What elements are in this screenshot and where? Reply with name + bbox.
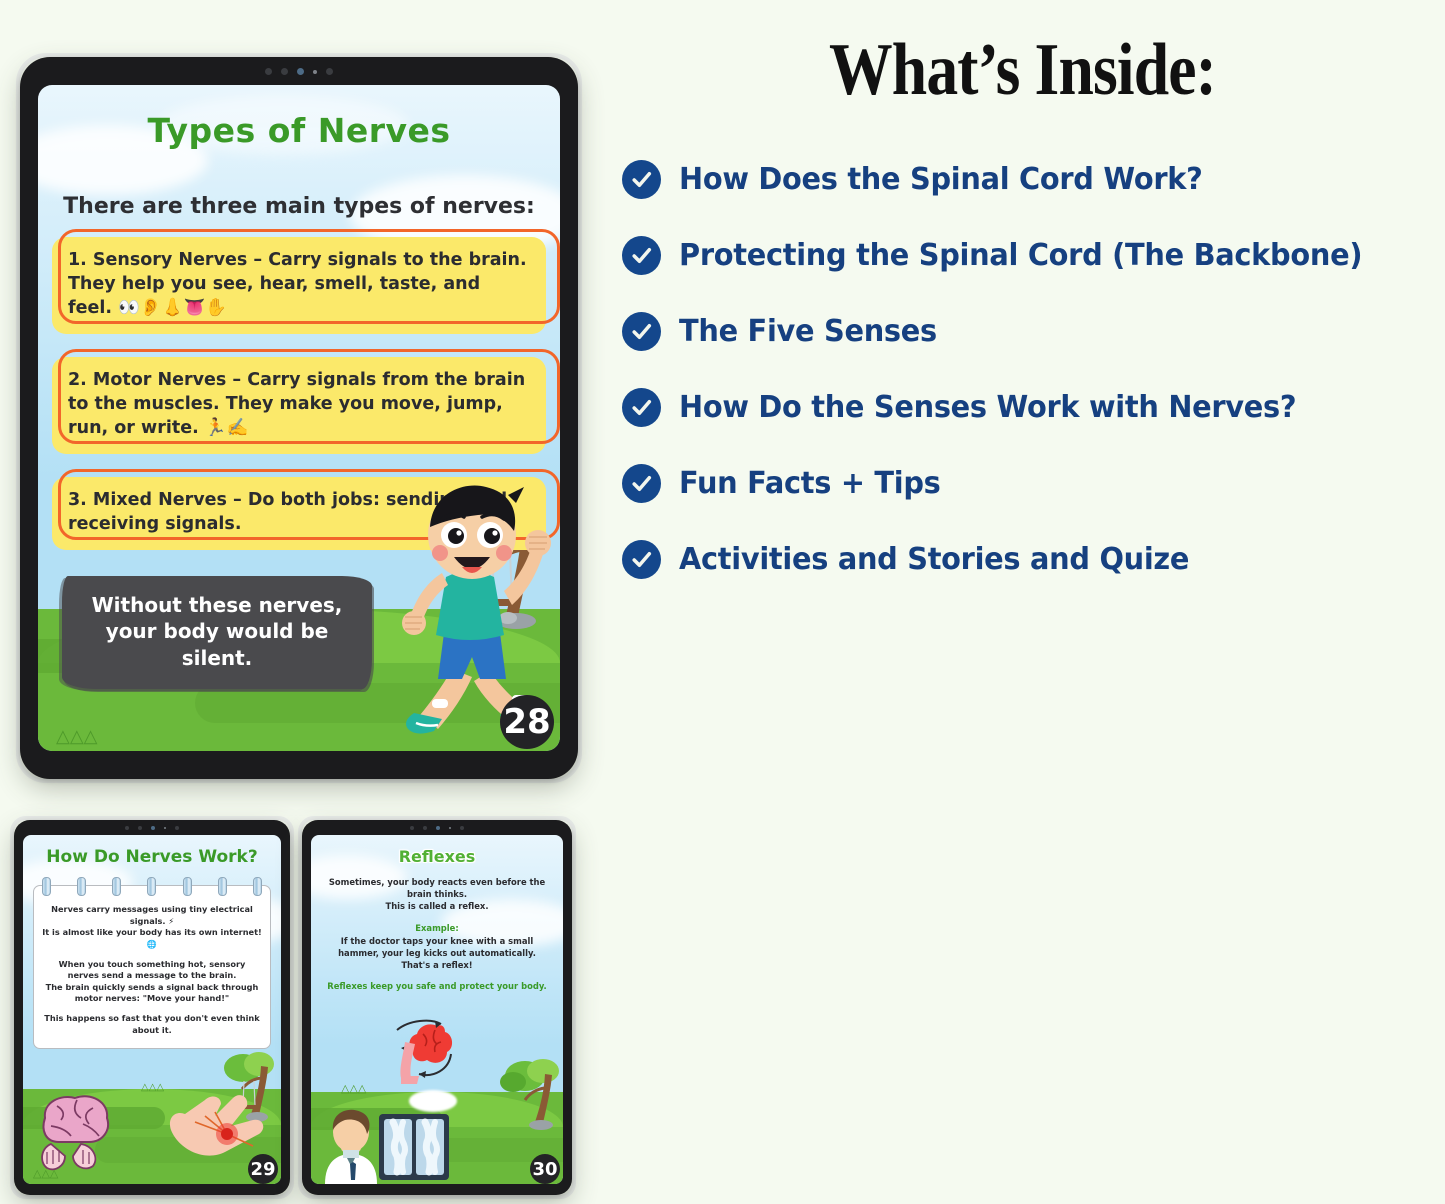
spiral-ring [77, 877, 86, 896]
checklist-item-label: The Five Senses [679, 314, 937, 349]
whats-inside-panel: What’s Inside: How Does the Spinal Cord … [600, 0, 1445, 640]
checklist-item[interactable]: The Five Senses [622, 309, 1445, 353]
sensor-dot [125, 826, 129, 830]
hand-with-nerves-illustration [165, 1076, 275, 1166]
spiral-ring [112, 877, 121, 896]
page-number-badge: 30 [530, 1154, 560, 1184]
feature-checklist: How Does the Spinal Cord Work? Protectin… [600, 157, 1445, 581]
body-paragraph: Sometimes, your body reacts even before … [319, 876, 555, 913]
note-text: 1. Sensory Nerves – Carry signals to the… [68, 250, 527, 318]
note-card: 1. Sensory Nerves – Carry signals to the… [52, 237, 546, 334]
page-title: How Do Nerves Work? [23, 847, 281, 867]
spiral-rings [42, 877, 262, 896]
checklist-item-label: How Do the Senses Work with Nerves? [679, 390, 1296, 425]
tablet-left-screen: △△△ △△△ How Do Nerves Work? [23, 835, 281, 1184]
check-circle-icon [622, 312, 661, 351]
tablet-right-screen: △△△ △△△ Reflexes Sometimes, your body re… [311, 835, 563, 1184]
camera-dot [151, 826, 155, 830]
check-circle-icon [622, 160, 661, 199]
banner-line-2: your body would be silent. [76, 618, 358, 671]
notepad-paragraph: Nerves carry messages using tiny electri… [42, 904, 262, 951]
tablet-device-right: △△△ △△△ Reflexes Sometimes, your body re… [302, 820, 572, 1195]
brain-illustration [33, 1088, 119, 1174]
sensor-dot [423, 826, 427, 830]
bezel-sensor-dots [20, 68, 578, 75]
brain-leg-reflex-diagram [389, 1016, 479, 1096]
reflexes-body: Sometimes, your body reacts even before … [319, 876, 555, 993]
checklist-item-label: Activities and Stories and Quize [679, 542, 1189, 577]
bezel-sensor-dots [14, 826, 290, 830]
sensor-dot [164, 827, 167, 830]
spiral-ring [183, 877, 192, 896]
check-circle-icon [622, 540, 661, 579]
checklist-item[interactable]: How Does the Spinal Cord Work? [622, 157, 1445, 201]
sensor-dot [460, 826, 464, 830]
page-number-badge: 28 [500, 695, 554, 749]
page-number-badge: 29 [248, 1154, 278, 1184]
page-subtitle: There are three main types of nerves: [38, 194, 560, 219]
knee-xray-illustration [377, 1112, 451, 1182]
checklist-item-label: Protecting the Spinal Cord (The Backbone… [679, 238, 1362, 273]
checklist-item[interactable]: Fun Facts + Tips [622, 461, 1445, 505]
tablet-device-left: △△△ △△△ How Do Nerves Work? [14, 820, 290, 1195]
camera-dot [436, 826, 440, 830]
spiral-ring [42, 877, 51, 896]
grass-tuft: △△△ [141, 1083, 164, 1093]
checklist-item[interactable]: How Do the Senses Work with Nerves? [622, 385, 1445, 429]
grass-tuft: △△△ [341, 1084, 366, 1095]
quote-banner: Without these nerves, your body would be… [62, 576, 372, 689]
notepad-card: Nerves carry messages using tiny electri… [33, 885, 271, 1049]
sensor-dot [410, 826, 414, 830]
example-label: Example: [319, 922, 555, 934]
notepad-paragraph: This happens so fast that you don't even… [42, 1013, 262, 1036]
tablet-device-main: △△△ △△△ Types of Nerves There are three … [20, 57, 578, 779]
check-circle-icon [622, 464, 661, 503]
checklist-item[interactable]: Protecting the Spinal Cord (The Backbone… [622, 233, 1445, 277]
check-circle-icon [622, 388, 661, 427]
tree-illustration [499, 1054, 563, 1134]
body-paragraph: If the doctor taps your knee with a smal… [319, 935, 555, 972]
sensor-dot [175, 826, 179, 830]
sensor-dot [265, 68, 272, 75]
camera-dot [297, 68, 304, 75]
spiral-ring [253, 877, 262, 896]
tablet-main-screen: △△△ △△△ Types of Nerves There are three … [38, 85, 560, 751]
checklist-item-label: How Does the Spinal Cord Work? [679, 162, 1203, 197]
sensor-dot [449, 827, 452, 830]
body-paragraph-highlight: Reflexes keep you safe and protect your … [319, 980, 555, 992]
checklist-item[interactable]: Activities and Stories and Quize [622, 537, 1445, 581]
spiral-ring [218, 877, 227, 896]
page-title: Types of Nerves [38, 111, 560, 150]
sensor-dot [138, 826, 142, 830]
note-text: 2. Motor Nerves – Carry signals from the… [68, 370, 525, 438]
sensor-dot [313, 70, 317, 74]
sensor-dot [326, 68, 333, 75]
checklist-item-label: Fun Facts + Tips [679, 466, 941, 501]
page-title: Reflexes [311, 847, 563, 866]
spiral-ring [147, 877, 156, 896]
check-circle-icon [622, 236, 661, 275]
notepad-paragraph: When you touch something hot, sensory ne… [42, 959, 262, 1006]
bezel-sensor-dots [302, 826, 572, 830]
page-heading: What’s Inside: [659, 28, 1386, 113]
banner-line-1: Without these nerves, [76, 592, 358, 618]
note-card: 2. Motor Nerves – Carry signals from the… [52, 357, 546, 454]
grass-tuft: △△△ [56, 727, 98, 745]
sensor-dot [281, 68, 288, 75]
